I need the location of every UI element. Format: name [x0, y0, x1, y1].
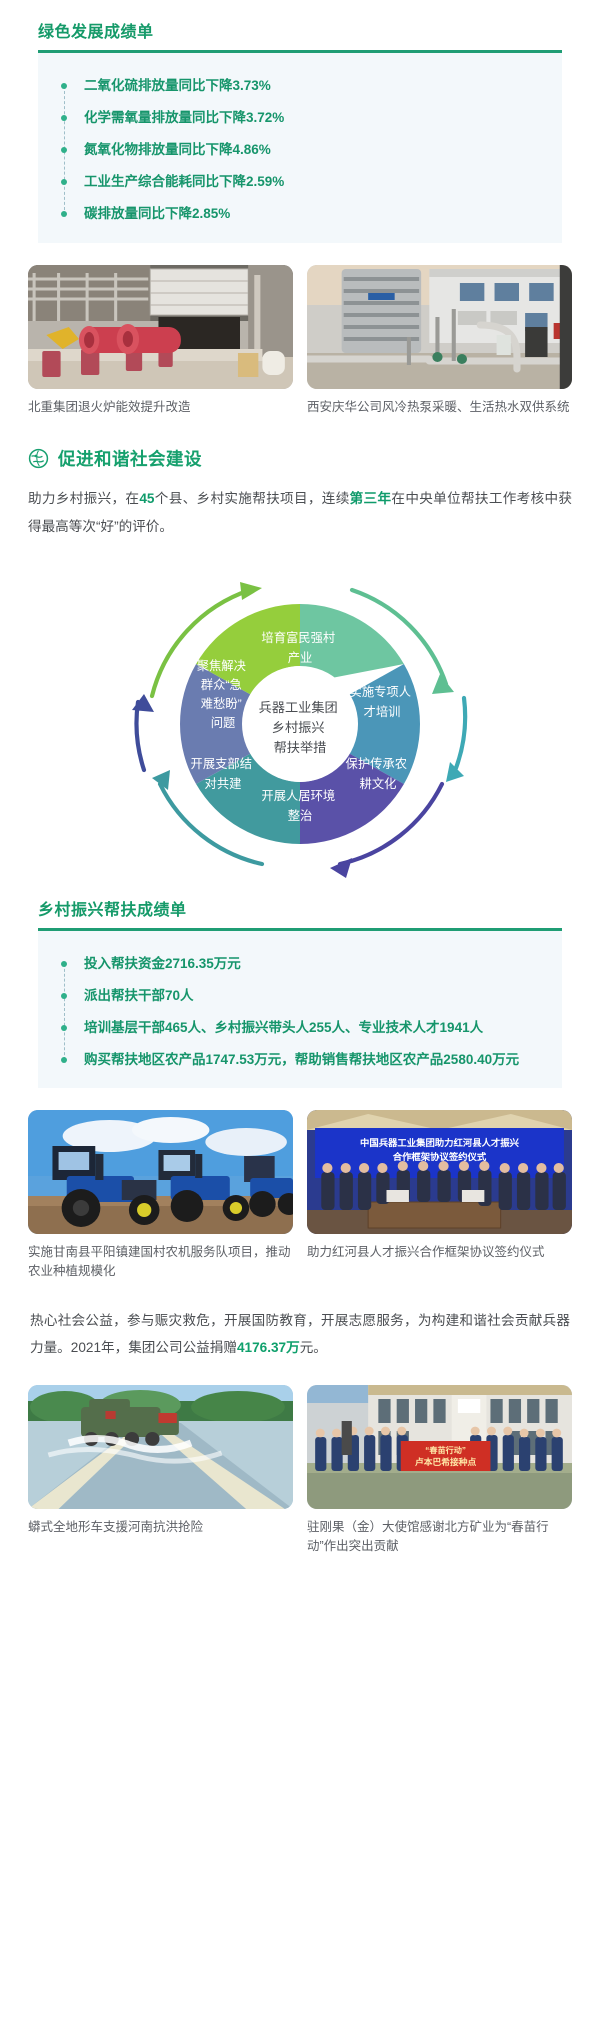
charity-paragraph: 热心社会公益，参与赈灾救危，开展国防教育，开展志愿服务，为构建和谐社会贡献兵器力…: [30, 1307, 570, 1361]
bullet-dot-icon: [61, 179, 67, 185]
photo-cell: “春苗行动” 卢本巴希接种点 驻刚果（金）大使馆感谢北方矿业为“春苗行动”作出突…: [307, 1385, 572, 1556]
para-seg: 个县、乡村实施帮扶项目，连续: [154, 491, 349, 506]
harmony-section-header: 促进和谐社会建设: [28, 446, 572, 471]
list-item: 氮氧化物排放量同比下降4.86%: [60, 140, 562, 161]
bullet-dot-icon: [61, 1025, 67, 1031]
signing-ceremony-photo: 中国兵器工业集团助力红河县人才振兴 合作框架协议签约仪式: [307, 1110, 572, 1234]
green-scorecard: 绿色发展成绩单 二氧化硫排放量同比下降3.73% 化学需氧量排放量同比下降3.7…: [38, 18, 562, 243]
photo-cell: 西安庆华公司风冷热泵采暖、生活热水双供系统: [307, 265, 572, 417]
charity-amount: 4176.37万: [237, 1340, 300, 1355]
list-item: 投入帮扶资金2716.35万元: [60, 954, 562, 975]
list-item-text: 碳排放量同比下降2.85%: [84, 206, 230, 221]
photo-caption: 驻刚果（金）大使馆感谢北方矿业为“春苗行动”作出突出贡献: [307, 1518, 572, 1556]
list-item-text: 培训基层干部465人、乡村振兴带头人255人、专业技术人才1941人: [84, 1020, 483, 1035]
photo-cell: 北重集团退火炉能效提升改造: [28, 265, 293, 417]
list-item-text: 派出帮扶干部70人: [84, 988, 194, 1003]
photo-cell: 中国兵器工业集团助力红河县人才振兴 合作框架协议签约仪式: [307, 1110, 572, 1281]
bullet-dot-icon: [61, 211, 67, 217]
photo-cell: 蟒式全地形车支援河南抗洪抢险: [28, 1385, 293, 1556]
banner-line-1: “春苗行动”: [425, 1445, 466, 1455]
photo-caption: 蟒式全地形车支援河南抗洪抢险: [28, 1518, 293, 1537]
list-item: 派出帮扶干部70人: [60, 986, 562, 1007]
para-highlight-third-year: 第三年: [350, 491, 392, 506]
green-scorecard-body: 二氧化硫排放量同比下降3.73% 化学需氧量排放量同比下降3.72% 氮氧化物排…: [38, 53, 562, 243]
harmony-section-paragraph: 助力乡村振兴，在45个县、乡村实施帮扶项目，连续第三年在中央单位帮扶工作考核中获…: [28, 485, 572, 539]
charity-text-after: 元。: [300, 1340, 327, 1355]
bullet-dot-icon: [61, 1057, 67, 1063]
photo-row-rural: 实施甘南县平阳镇建国村农机服务队项目，推动农业种植规模化 中国兵器工业集团助力红…: [28, 1110, 572, 1281]
green-scorecard-title: 绿色发展成绩单: [38, 18, 562, 50]
photo-caption: 北重集团退火炉能效提升改造: [28, 398, 293, 417]
list-item-text: 购买帮扶地区农产品1747.53万元，帮助销售帮扶地区农产品2580.40万元: [84, 1052, 519, 1067]
globe-handshake-icon: [28, 448, 49, 469]
photo-row-charity: 蟒式全地形车支援河南抗洪抢险: [28, 1385, 572, 1556]
list-item-text: 氮氧化物排放量同比下降4.86%: [84, 142, 271, 157]
photo-caption: 西安庆华公司风冷热泵采暖、生活热水双供系统: [307, 398, 572, 417]
bullet-dot-icon: [61, 961, 67, 967]
para-highlight-45: 45: [139, 491, 154, 506]
rural-scorecard-list: 投入帮扶资金2716.35万元 派出帮扶干部70人 培训基层干部465人、乡村振…: [60, 954, 562, 1071]
air-source-heat-pump-photo: [307, 265, 572, 389]
vaccination-site-group-photo: “春苗行动” 卢本巴希接种点: [307, 1385, 572, 1509]
list-item: 二氧化硫排放量同比下降3.73%: [60, 76, 562, 97]
photo-caption: 实施甘南县平阳镇建国村农机服务队项目，推动农业种植规模化: [28, 1243, 293, 1281]
banner-line-2: 合作框架协议签约仪式: [393, 1152, 487, 1163]
arrow-head-top-left: [240, 582, 262, 600]
photo-row-green: 北重集团退火炉能效提升改造: [28, 265, 572, 417]
photo-cell: 实施甘南县平阳镇建国村农机服务队项目，推动农业种植规模化: [28, 1110, 293, 1281]
rural-scorecard-body: 投入帮扶资金2716.35万元 派出帮扶干部70人 培训基层干部465人、乡村振…: [38, 931, 562, 1089]
annealing-furnace-photo: [28, 265, 293, 389]
bullet-dot-icon: [61, 993, 67, 999]
list-item: 工业生产综合能耗同比下降2.59%: [60, 172, 562, 193]
donut-svg: 培育富民强村 产业 实施专项人 才培训 保护传承农 耕文化 开展人居环境 整治 …: [90, 546, 510, 886]
rural-revitalization-donut-chart: 培育富民强村 产业 实施专项人 才培训 保护传承农 耕文化 开展人居环境 整治 …: [0, 546, 600, 886]
arrow-right: [456, 698, 465, 768]
amphibious-vehicle-flood-rescue-photo: [28, 1385, 293, 1509]
bullet-dot-icon: [61, 147, 67, 153]
tractors-photo: [28, 1110, 293, 1234]
report-page: 绿色发展成绩单 二氧化硫排放量同比下降3.73% 化学需氧量排放量同比下降3.7…: [0, 18, 600, 1556]
arrow-left: [136, 702, 144, 770]
photo-caption: 助力红河县人才振兴合作框架协议签约仪式: [307, 1243, 572, 1262]
list-item: 培训基层干部465人、乡村振兴带头人255人、专业技术人才1941人: [60, 1018, 562, 1039]
arrow-head-bottom-right: [330, 858, 352, 878]
list-item: 碳排放量同比下降2.85%: [60, 204, 562, 225]
list-item-text: 工业生产综合能耗同比下降2.59%: [84, 174, 284, 189]
rural-scorecard: 乡村振兴帮扶成绩单 投入帮扶资金2716.35万元 派出帮扶干部70人 培训基层…: [38, 896, 562, 1089]
bullet-dot-icon: [61, 115, 67, 121]
rural-scorecard-title: 乡村振兴帮扶成绩单: [38, 896, 562, 928]
list-item-text: 二氧化硫排放量同比下降3.73%: [84, 78, 271, 93]
list-item-text: 化学需氧量排放量同比下降3.72%: [84, 110, 284, 125]
para-seg: 助力乡村振兴，在: [28, 491, 139, 506]
bullet-dot-icon: [61, 83, 67, 89]
list-item: 购买帮扶地区农产品1747.53万元，帮助销售帮扶地区农产品2580.40万元: [60, 1050, 562, 1071]
list-item: 化学需氧量排放量同比下降3.72%: [60, 108, 562, 129]
green-scorecard-list: 二氧化硫排放量同比下降3.73% 化学需氧量排放量同比下降3.72% 氮氧化物排…: [60, 76, 562, 225]
list-item-text: 投入帮扶资金2716.35万元: [84, 956, 241, 971]
banner-line-1: 中国兵器工业集团助力红河县人才振兴: [360, 1138, 520, 1149]
harmony-section-title: 促进和谐社会建设: [58, 446, 202, 471]
banner-line-2: 卢本巴希接种点: [415, 1456, 477, 1467]
